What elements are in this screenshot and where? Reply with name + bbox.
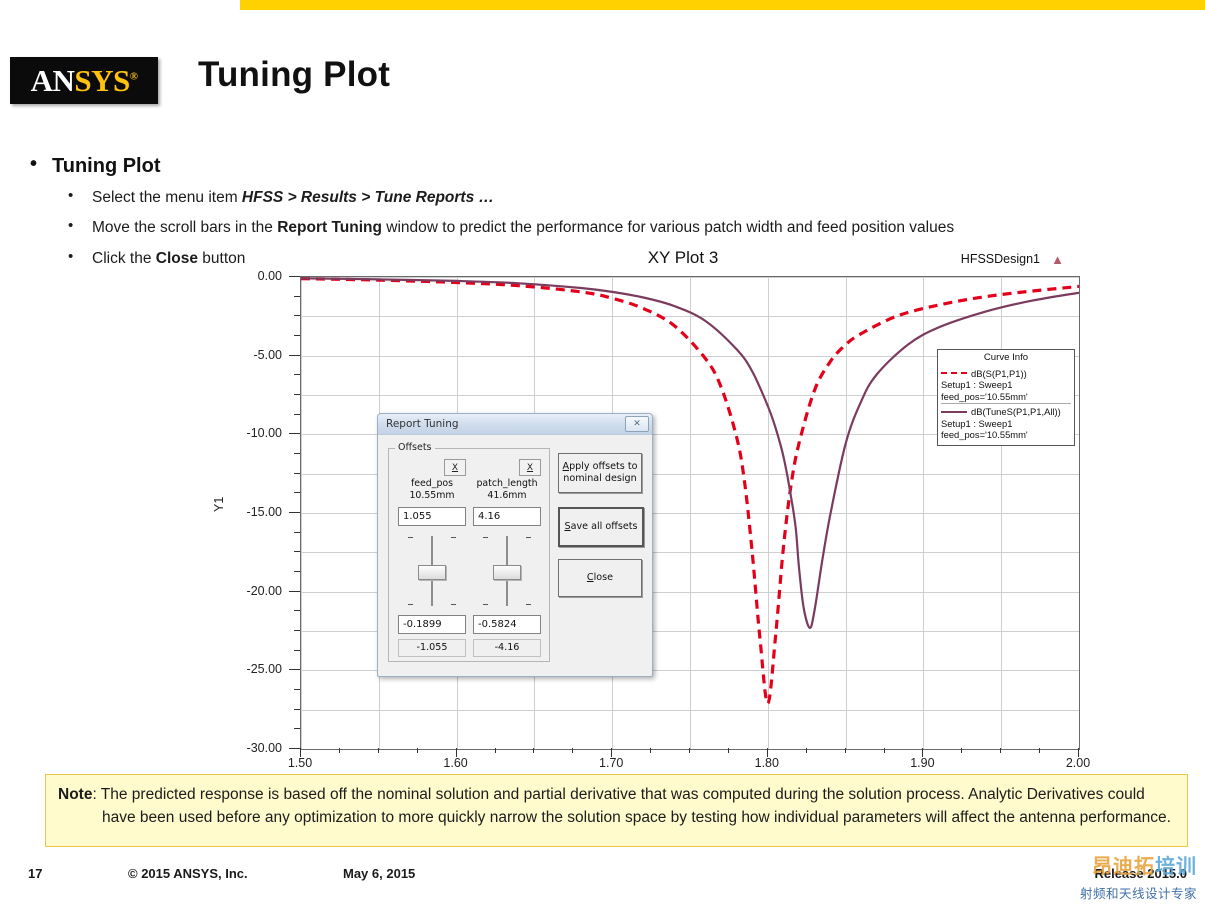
x-tick-label: 1.90	[910, 756, 934, 770]
slider-thumb[interactable]	[493, 565, 521, 580]
slider-tick-bottom-left	[408, 604, 413, 605]
report-tuning-dialog[interactable]: Report Tuning ✕ Offsets X feed_pos 10.55…	[377, 413, 653, 677]
param-column-feed-pos: X feed_pos 10.55mm 1.055 -0.1899 -1.055	[398, 459, 466, 657]
y-tick-label: 0.00	[258, 269, 282, 283]
logo-text-an: AN	[31, 63, 75, 98]
feed-pos-min-field: -1.055	[398, 639, 466, 657]
top-accent-bar	[240, 0, 1205, 10]
note-label: Note	[58, 786, 92, 803]
y-tick-label: -5.00	[254, 348, 283, 362]
x-tick-label: 2.00	[1066, 756, 1090, 770]
legend-swatch-dashed-icon	[941, 372, 967, 374]
reset-feed-pos-button[interactable]: X	[444, 459, 466, 476]
y-tick-label: -25.00	[247, 662, 282, 676]
y-tick-label: -10.00	[247, 426, 282, 440]
slider-tick-top-left	[408, 537, 413, 538]
save-rest: ave all offsets	[571, 521, 638, 532]
param-patch-length-nominal: 41.6mm	[487, 490, 526, 501]
feed-pos-min-value: -1.055	[417, 642, 448, 653]
param-column-patch-length: X patch_length 41.6mm 4.16 -0.5824 -4.16	[473, 459, 541, 657]
slider-thumb[interactable]	[418, 565, 446, 580]
x-tick-label: 1.50	[288, 756, 312, 770]
close-rest: lose	[594, 572, 613, 583]
close-icon[interactable]: ✕	[625, 416, 649, 432]
legend-title: Curve Info	[941, 352, 1071, 364]
dialog-titlebar[interactable]: Report Tuning ✕	[378, 414, 652, 435]
feed-pos-max-value: 1.055	[403, 511, 432, 522]
patch-length-min-field: -4.16	[473, 639, 541, 657]
param-feed-pos-nominal: 10.55mm	[409, 490, 454, 501]
legend-swatch-solid-icon	[941, 411, 967, 413]
legend-entry-0-setup: Setup1 : Sweep1	[941, 379, 1071, 390]
dialog-body: Offsets X feed_pos 10.55mm 1.055 -0.1899	[378, 435, 652, 675]
patch-length-current-field[interactable]: -0.5824	[473, 615, 541, 634]
x-tick-label: 1.60	[443, 756, 467, 770]
reset-patch-length-button[interactable]: X	[519, 459, 541, 476]
patch-length-slider[interactable]	[473, 531, 541, 611]
note-text: : The predicted response is based off th…	[92, 786, 1171, 826]
ansys-mark-icon: ▲	[1051, 252, 1064, 267]
legend-entry-1-setup: Setup1 : Sweep1	[941, 418, 1071, 429]
param-name-feed-pos: feed_pos 10.55mm	[398, 478, 466, 502]
bullet-2-emphasis: Report Tuning	[277, 219, 382, 236]
y-axis-ticks	[288, 276, 300, 748]
bullet-heading: Tuning Plot	[24, 155, 1174, 178]
ansys-logo: ANSYS®	[10, 57, 158, 104]
feed-pos-max-field[interactable]: 1.055	[398, 507, 466, 526]
save-all-offsets-button[interactable]: Save all offsets	[558, 507, 644, 547]
x-tick-label: 1.70	[599, 756, 623, 770]
feed-pos-current-field[interactable]: -0.1899	[398, 615, 466, 634]
design-name-label: HFSSDesign1	[961, 252, 1040, 266]
bullet-1-pre: Select the menu item	[92, 189, 242, 206]
y-tick-label: -20.00	[247, 584, 282, 598]
page-title: Tuning Plot	[198, 55, 390, 95]
legend-entry-1-variation: feed_pos='10.55mm'	[941, 429, 1071, 440]
bullet-item-1: Select the menu item HFSS > Results > Tu…	[24, 188, 1174, 207]
copyright-text: © 2015 ANSYS, Inc.	[128, 866, 248, 881]
legend-entry-0: dB(S(P1,P1)) Setup1 : Sweep1 feed_pos='1…	[941, 366, 1071, 403]
param-name-patch-length: patch_length 41.6mm	[473, 478, 541, 502]
slider-tick-bottom-left	[483, 604, 488, 605]
bullet-item-2: Move the scroll bars in the Report Tunin…	[24, 218, 1174, 237]
y-axis-title: Y1	[212, 497, 226, 512]
legend: Curve Info dB(S(P1,P1)) Setup1 : Sweep1 …	[937, 349, 1075, 446]
page-number: 17	[28, 866, 42, 881]
x-axis-labels: 1.501.601.701.801.902.00	[300, 756, 1078, 772]
y-tick-label: -15.00	[247, 505, 282, 519]
slider-tick-top-right	[526, 537, 531, 538]
legend-entry-1-name: dB(TuneS(P1,P1,All))	[971, 406, 1061, 417]
legend-entry-1: dB(TuneS(P1,P1,All)) Setup1 : Sweep1 fee…	[941, 403, 1071, 441]
logo-registered-mark: ®	[130, 71, 138, 83]
bullet-2-post: window to predict the performance for va…	[382, 219, 954, 236]
feed-pos-current-value: -0.1899	[403, 619, 442, 630]
param-feed-pos-name: feed_pos	[411, 478, 453, 489]
y-axis-labels: 0.00-5.00-10.00-15.00-20.00-25.00-30.00	[226, 276, 282, 748]
logo-text-sys: SYS	[74, 63, 129, 98]
reset-feed-pos-label: X	[452, 463, 458, 473]
slider-tick-bottom-right	[451, 604, 456, 605]
bullet-3-pre: Click the	[92, 250, 156, 267]
close-button[interactable]: Close	[558, 559, 642, 597]
reset-patch-length-label: X	[527, 463, 533, 473]
close-accel: C	[587, 572, 594, 583]
patch-length-current-value: -0.5824	[478, 619, 517, 630]
apply-offsets-button[interactable]: Apply offsets to nominal design	[558, 453, 642, 493]
chart-title: XY Plot 3	[288, 248, 1078, 268]
bullet-3-emphasis: Close	[156, 250, 198, 267]
patch-length-max-value: 4.16	[478, 511, 500, 522]
bullet-2-pre: Move the scroll bars in the	[92, 219, 277, 236]
patch-length-max-field[interactable]: 4.16	[473, 507, 541, 526]
offsets-group-label: Offsets	[395, 442, 435, 453]
slider-tick-top-right	[451, 537, 456, 538]
slider-tick-bottom-right	[526, 604, 531, 605]
dialog-title: Report Tuning	[386, 418, 625, 430]
slider-tick-top-left	[483, 537, 488, 538]
date-text: May 6, 2015	[343, 866, 415, 881]
bullet-1-emphasis: HFSS > Results > Tune Reports …	[242, 189, 494, 206]
legend-entry-0-name: dB(S(P1,P1))	[971, 368, 1027, 379]
note-box: Note: The predicted response is based of…	[45, 774, 1188, 847]
patch-length-min-value: -4.16	[495, 642, 520, 653]
bullet-3-post: button	[198, 250, 245, 267]
release-text: Release 2015.0	[1094, 866, 1187, 881]
apply-rest: pply offsets to nominal design	[563, 461, 637, 484]
legend-entry-0-variation: feed_pos='10.55mm'	[941, 391, 1071, 402]
y-tick-label: -30.00	[247, 741, 282, 755]
offsets-group: Offsets X feed_pos 10.55mm 1.055 -0.1899	[388, 448, 550, 662]
feed-pos-slider[interactable]	[398, 531, 466, 611]
x-tick-label: 1.80	[755, 756, 779, 770]
footer: 17 © 2015 ANSYS, Inc. May 6, 2015 Releas…	[0, 866, 1205, 890]
param-patch-length-name: patch_length	[476, 478, 537, 489]
